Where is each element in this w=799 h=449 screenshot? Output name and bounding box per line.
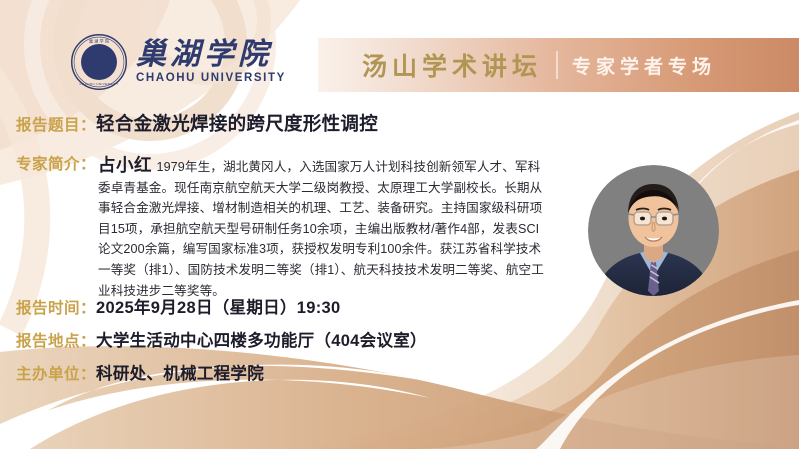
report-title-label: 报告题目： [16, 113, 96, 135]
forum-banner: 汤山学术讲坛 专家学者专场 [318, 38, 799, 92]
report-host-row: 主办单位： 科研处、机械工程学院 [16, 360, 264, 384]
report-time-row: 报告时间： 2025年9月28日（星期日）19:30 [16, 294, 340, 318]
report-title-value: 轻合金激光焊接的跨尺度形性调控 [96, 110, 378, 136]
report-time-label: 报告时间： [16, 296, 96, 318]
banner-divider [556, 51, 558, 79]
report-host-value: 科研处、机械工程学院 [96, 360, 264, 384]
forum-subtitle: 专家学者专场 [572, 52, 716, 79]
expert-bio-row: 专家简介： 占小红 1979年生，湖北黄冈人，入选国家万人计划科技创新领军人才、… [16, 152, 546, 301]
expert-bio-text: 1979年生，湖北黄冈人，入选国家万人计划科技创新领军人才、军科委卓青基金。现任… [98, 160, 544, 298]
speaker-portrait-image [588, 165, 719, 296]
report-place-row: 报告地点： 大学生活动中心四楼多功能厅（404会议室） [16, 327, 427, 351]
expert-bio-label: 专家简介： [16, 152, 96, 174]
expert-name: 占小红 [98, 155, 152, 175]
speaker-portrait [588, 165, 719, 296]
svg-text:巢 湖 学 院: 巢 湖 学 院 [89, 37, 109, 43]
poster-header: 巢 湖 学 院 CHAOHU UNIVERSITY 1977 巢湖学院 CHAO… [0, 0, 799, 100]
university-name-en: CHAOHU UNIVERSITY [136, 72, 286, 84]
university-brand: 巢 湖 学 院 CHAOHU UNIVERSITY 1977 巢湖学院 CHAO… [70, 33, 286, 91]
report-title-row: 报告题目： 轻合金激光焊接的跨尺度形性调控 [16, 110, 378, 136]
university-name-block: 巢湖学院 CHAOHU UNIVERSITY [136, 39, 286, 86]
report-place-label: 报告地点： [16, 329, 96, 351]
report-host-label: 主办单位： [16, 362, 96, 384]
svg-text:CHAOHU UNIVERSITY: CHAOHU UNIVERSITY [79, 82, 119, 86]
forum-title: 汤山学术讲坛 [362, 47, 542, 83]
svg-text:1977: 1977 [96, 66, 102, 68]
university-name-cn: 巢湖学院 [136, 39, 286, 71]
expert-bio-body: 占小红 1979年生，湖北黄冈人，入选国家万人计划科技创新领军人才、军科委卓青基… [98, 152, 546, 301]
report-time-value: 2025年9月28日（星期日）19:30 [96, 294, 340, 318]
chaohu-university-seal-icon: 巢 湖 学 院 CHAOHU UNIVERSITY 1977 [70, 33, 128, 91]
report-place-value: 大学生活动中心四楼多功能厅（404会议室） [96, 327, 427, 351]
lecture-poster: 巢 湖 学 院 CHAOHU UNIVERSITY 1977 巢湖学院 CHAO… [0, 0, 799, 449]
